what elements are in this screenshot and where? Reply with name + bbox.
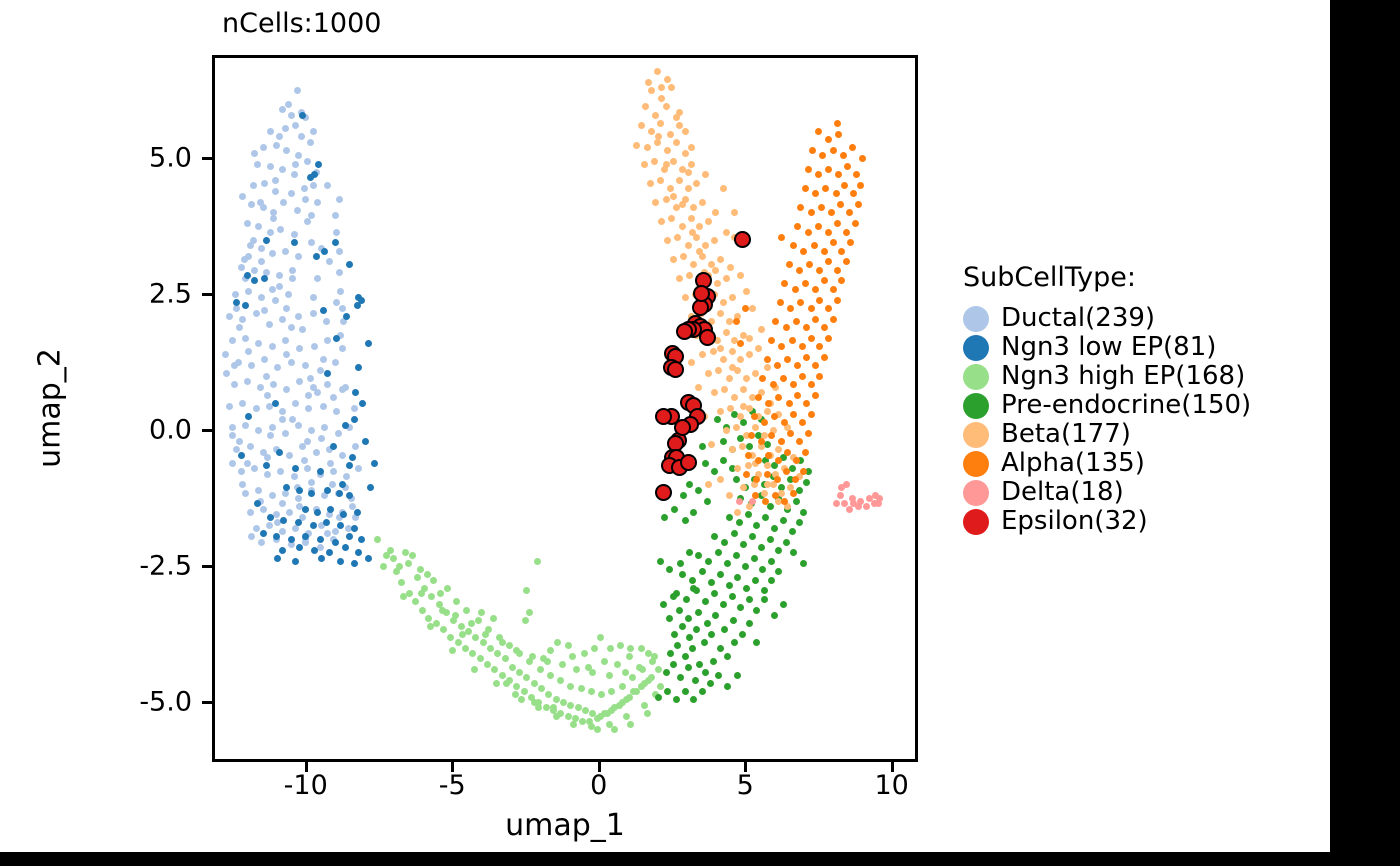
scatter-point — [222, 351, 229, 358]
scatter-point — [337, 558, 344, 565]
scatter-point — [765, 452, 772, 459]
scatter-point — [261, 307, 268, 314]
scatter-point — [260, 144, 267, 151]
scatter-point — [711, 389, 718, 396]
scatter-point — [758, 544, 765, 551]
scatter-point — [288, 112, 295, 119]
scatter-point — [793, 318, 800, 325]
scatter-point — [794, 362, 801, 369]
scatter-point — [790, 381, 797, 388]
scatter-point — [787, 430, 794, 437]
scatter-point — [274, 364, 281, 371]
scatter-point — [720, 457, 727, 464]
scatter-point — [685, 242, 692, 249]
legend: SubCellType: Ductal(239)Ngn3 low EP(81)N… — [963, 262, 1303, 536]
scatter-point — [771, 413, 778, 420]
scatter-point — [651, 158, 658, 165]
scatter-point — [232, 291, 239, 298]
scatter-point — [484, 661, 491, 668]
scatter-point — [371, 460, 378, 467]
scatter-point — [692, 677, 699, 684]
scatter-point — [336, 248, 343, 255]
scatter-point — [772, 318, 779, 325]
scatter-point — [667, 361, 684, 378]
scatter-point — [712, 267, 719, 274]
scatter-point — [705, 370, 712, 377]
scatter-point — [679, 623, 686, 630]
scatter-point — [830, 316, 837, 323]
scatter-point — [380, 563, 387, 570]
scatter-point — [291, 171, 298, 178]
scatter-point — [288, 359, 295, 366]
scatter-point — [710, 658, 717, 665]
scatter-point — [339, 452, 346, 459]
scatter-point — [304, 158, 311, 165]
scatter-point — [307, 375, 314, 382]
scatter-point — [743, 288, 750, 295]
scatter-point — [245, 253, 252, 260]
scatter-point — [581, 650, 588, 657]
scatter-point — [667, 650, 674, 657]
scatter-point — [796, 267, 803, 274]
scatter-point — [657, 120, 664, 127]
scatter-point — [753, 639, 760, 646]
scatter-point — [273, 511, 280, 518]
scatter-point — [736, 498, 743, 505]
legend-swatch-icon — [963, 480, 989, 506]
scatter-point — [734, 509, 741, 516]
scatter-point — [731, 639, 738, 646]
legend-item-beta[interactable]: Beta(177) — [963, 420, 1303, 449]
scatter-point — [310, 310, 317, 317]
scatter-point — [276, 449, 283, 456]
scatter-point — [673, 696, 680, 703]
scatter-point — [777, 299, 784, 306]
scatter-point — [324, 370, 331, 377]
scatter-point — [721, 539, 728, 546]
scatter-point — [279, 547, 286, 554]
scatter-point — [418, 590, 425, 597]
scatter-point — [708, 631, 715, 638]
scatter-point — [670, 193, 677, 200]
scatter-point — [296, 487, 303, 494]
scatter-point — [660, 601, 667, 608]
scatter-point — [229, 432, 236, 439]
scatter-point — [339, 305, 346, 312]
scatter-point — [853, 171, 860, 178]
scatter-point — [292, 161, 299, 168]
scatter-point — [330, 394, 337, 401]
scatter-point — [808, 335, 815, 342]
scatter-point — [226, 403, 233, 410]
scatter-point — [406, 590, 413, 597]
scatter-point — [855, 201, 862, 208]
scatter-point — [333, 408, 340, 415]
scatter-point — [638, 122, 645, 129]
scatter-point — [263, 237, 270, 244]
scatter-point — [815, 128, 822, 135]
scatter-point — [321, 424, 328, 431]
scatter-point — [330, 443, 337, 450]
scatter-point — [863, 503, 870, 510]
legend-item-alpha[interactable]: Alpha(135) — [963, 449, 1303, 478]
scatter-point — [835, 131, 842, 138]
scatter-point — [800, 509, 807, 516]
scatter-point — [244, 378, 251, 385]
scatter-point — [720, 356, 727, 363]
scatter-point — [833, 190, 840, 197]
scatter-point — [261, 180, 268, 187]
scatter-point — [740, 403, 747, 410]
scatter-point — [424, 571, 431, 578]
scatter-point — [250, 182, 257, 189]
scatter-point — [317, 367, 324, 374]
scatter-point — [689, 645, 696, 652]
scatter-point — [825, 335, 832, 342]
scatter-point — [261, 275, 268, 282]
scatter-point — [260, 530, 267, 537]
scatter-point — [236, 324, 243, 331]
scatter-point — [619, 683, 626, 690]
scatter-point — [296, 544, 303, 551]
scatter-point — [764, 364, 771, 371]
legend-label: Pre-endocrine(150) — [1001, 391, 1251, 420]
legend-item-delta[interactable]: Delta(18) — [963, 478, 1303, 507]
legend-item-ngn3-low-ep[interactable]: Ngn3 low EP(81) — [963, 333, 1303, 362]
scatter-point — [778, 490, 785, 497]
scatter-point — [799, 373, 806, 380]
scatter-point — [314, 509, 321, 516]
scatter-point — [311, 343, 318, 350]
scatter-point — [283, 386, 290, 393]
scatter-point — [255, 340, 262, 347]
scatter-point — [277, 226, 284, 233]
scatter-point — [743, 375, 750, 382]
scatter-point — [740, 419, 747, 426]
scatter-point — [374, 536, 381, 543]
scatter-point — [547, 672, 554, 679]
legend-item-ngn3-high-ep[interactable]: Ngn3 high EP(168) — [963, 362, 1303, 391]
legend-item-ductal[interactable]: Ductal(239) — [963, 304, 1303, 333]
scatter-point — [301, 457, 308, 464]
scatter-point — [800, 248, 807, 255]
scatter-point — [295, 253, 302, 260]
scatter-point — [270, 381, 277, 388]
scatter-point — [343, 473, 350, 480]
scatter-point — [674, 234, 681, 241]
scatter-point — [749, 498, 756, 505]
scatter-point — [789, 528, 796, 535]
scatter-point — [295, 495, 302, 502]
scatter-point — [717, 408, 724, 415]
scatter-point — [822, 185, 829, 192]
scatter-point — [753, 476, 760, 483]
scatter-point — [554, 639, 561, 646]
scatter-point — [279, 106, 286, 113]
scatter-point — [677, 674, 684, 681]
scatter-point — [570, 721, 577, 728]
scatter-point — [739, 443, 746, 450]
scatter-point — [286, 509, 293, 516]
scatter-point — [733, 424, 740, 431]
scatter-point — [560, 699, 567, 706]
scatter-point — [346, 462, 353, 469]
scatter-point — [702, 598, 709, 605]
scatter-point — [775, 568, 782, 575]
scatter-point — [812, 316, 819, 323]
scatter-point — [841, 182, 848, 189]
scatter-point — [238, 264, 245, 271]
scatter-point — [453, 598, 460, 605]
scatter-point — [685, 615, 692, 622]
scatter-point — [352, 389, 359, 396]
scatter-point — [472, 634, 479, 641]
scatter-point — [245, 413, 252, 420]
scatter-point — [582, 707, 589, 714]
scatter-point — [355, 549, 362, 556]
scatter-point — [771, 612, 778, 619]
scatter-point — [745, 462, 752, 469]
scatter-point — [365, 340, 372, 347]
scatter-point — [737, 272, 744, 279]
scatter-point — [327, 506, 334, 513]
y-tick-label: 5.0 — [60, 143, 192, 174]
scatter-point — [547, 647, 554, 654]
scatter-point — [349, 454, 356, 461]
scatter-point — [731, 394, 738, 401]
figure-canvas: nCells:1000 -10-50510 5.02.50.0-2.5-5.0 … — [0, 0, 1330, 852]
scatter-point — [645, 677, 652, 684]
legend-label: Alpha(135) — [1001, 449, 1145, 478]
legend-label: Ngn3 low EP(81) — [1001, 333, 1216, 362]
scatter-point — [396, 563, 403, 570]
y-tick-mark — [202, 565, 212, 568]
scatter-point — [567, 683, 574, 690]
x-tick-label: -10 — [284, 770, 328, 801]
scatter-point — [272, 400, 279, 407]
scatter-point — [781, 498, 788, 505]
scatter-point — [764, 481, 771, 488]
scatter-point — [529, 653, 536, 660]
scatter-point — [729, 446, 736, 453]
scatter-point — [734, 465, 741, 472]
scatter-point — [335, 430, 342, 437]
scatter-point — [616, 702, 623, 709]
scatter-point — [493, 680, 500, 687]
scatter-point — [269, 492, 276, 499]
scatter-point — [711, 237, 718, 244]
scatter-point — [696, 223, 703, 230]
scatter-point — [292, 400, 299, 407]
scatter-point — [702, 669, 709, 676]
scatter-point — [834, 297, 841, 304]
scatter-point — [805, 229, 812, 236]
scatter-point — [462, 645, 469, 652]
scatter-point — [250, 237, 257, 244]
legend-swatch-icon — [963, 393, 989, 419]
scatter-point — [730, 617, 737, 624]
scatter-point — [339, 345, 346, 352]
legend-swatch-icon — [963, 335, 989, 361]
scatter-point — [655, 484, 672, 501]
scatter-point — [263, 462, 270, 469]
scatter-point — [452, 612, 459, 619]
scatter-point — [238, 468, 245, 475]
scatter-point — [702, 460, 709, 467]
scatter-point — [597, 634, 604, 641]
scatter-point — [324, 487, 331, 494]
scatter-point — [751, 413, 758, 420]
scatter-point — [346, 533, 353, 540]
scatter-point — [607, 645, 614, 652]
scatter-point — [308, 490, 315, 497]
scatter-point — [654, 68, 661, 75]
scatter-point — [652, 199, 659, 206]
scatter-point — [490, 615, 497, 622]
scatter-point — [855, 503, 862, 510]
scatter-point — [283, 305, 290, 312]
y-tick-label: 2.5 — [60, 279, 192, 310]
scatter-point — [674, 419, 691, 436]
scatter-point — [277, 468, 284, 475]
scatter-point — [792, 286, 799, 293]
scatter-point — [295, 152, 302, 159]
scatter-point — [267, 163, 274, 170]
scatter-point — [272, 188, 279, 195]
scatter-point — [642, 103, 649, 110]
scatter-point — [850, 190, 857, 197]
scatter-point — [657, 683, 664, 690]
scatter-point — [690, 696, 697, 703]
scatter-point — [721, 626, 728, 633]
scatter-point — [365, 555, 372, 562]
scatter-point — [594, 726, 601, 733]
scatter-point — [327, 460, 334, 467]
scatter-point — [752, 577, 759, 584]
scatter-point — [304, 465, 311, 472]
scatter-point — [626, 653, 633, 660]
scatter-point — [821, 248, 828, 255]
scatter-point — [352, 443, 359, 450]
scatter-point — [623, 713, 630, 720]
scatter-point — [305, 405, 312, 412]
scatter-point — [688, 144, 695, 151]
scatter-point — [833, 500, 840, 507]
scatter-point — [746, 335, 753, 342]
scatter-point — [715, 672, 722, 679]
scatter-point — [787, 305, 794, 312]
scatter-point — [688, 359, 695, 366]
legend-item-epsilon[interactable]: Epsilon(32) — [963, 507, 1303, 536]
scatter-point — [834, 267, 841, 274]
legend-swatch-icon — [963, 451, 989, 477]
scatter-point — [238, 452, 245, 459]
scatter-point — [279, 528, 286, 535]
scatter-point — [383, 552, 390, 559]
scatter-point — [768, 558, 775, 565]
scatter-point — [821, 324, 828, 331]
scatter-point — [273, 142, 280, 149]
scatter-point — [333, 229, 340, 236]
scatter-point — [707, 680, 714, 687]
scatter-point — [291, 239, 298, 246]
scatter-point — [655, 133, 662, 140]
scatter-point — [248, 201, 255, 208]
scatter-point — [315, 161, 322, 168]
scatter-point — [671, 506, 678, 513]
legend-item-pre-endocrine[interactable]: Pre-endocrine(150) — [963, 391, 1303, 420]
scatter-point — [729, 294, 736, 301]
scatter-point — [611, 726, 618, 733]
scatter-point — [808, 209, 815, 216]
scatter-point — [724, 560, 731, 567]
scatter-point — [354, 509, 361, 516]
scatter-point — [708, 579, 715, 586]
scatter-point — [330, 468, 337, 475]
scatter-point — [449, 647, 456, 654]
scatter-point — [690, 261, 697, 268]
scatter-point — [229, 337, 236, 344]
scatter-point — [658, 95, 665, 102]
scatter-point — [739, 631, 746, 638]
scatter-point — [354, 302, 361, 309]
scatter-point — [622, 669, 629, 676]
scatter-point — [644, 144, 651, 151]
scatter-point — [749, 305, 756, 312]
scatter-point — [629, 674, 636, 681]
scatter-point — [405, 560, 412, 567]
scatter-point — [606, 672, 613, 679]
scatter-point — [658, 218, 665, 225]
scatter-point — [702, 171, 709, 178]
scatter-point — [668, 84, 675, 91]
scatter-point — [849, 144, 856, 151]
scatter-point — [279, 408, 286, 415]
y-tick-mark — [202, 701, 212, 704]
scatter-point — [359, 400, 366, 407]
scatter-point — [282, 430, 289, 437]
scatter-point — [534, 558, 541, 565]
scatter-point — [279, 500, 286, 507]
scatter-point — [816, 343, 823, 350]
scatter-point — [288, 536, 295, 543]
scatter-point — [258, 245, 265, 252]
scatter-point — [242, 490, 249, 497]
scatter-point — [784, 356, 791, 363]
scatter-point — [279, 416, 286, 423]
scatter-point — [417, 566, 424, 573]
scatter-point — [812, 392, 819, 399]
scatter-point — [502, 655, 509, 662]
scatter-point — [838, 248, 845, 255]
scatter-point — [733, 476, 740, 483]
scatter-point — [781, 280, 788, 287]
scatter-point — [608, 688, 615, 695]
scatter-point — [288, 324, 295, 331]
scatter-point — [292, 122, 299, 129]
scatter-point — [601, 658, 608, 665]
scatter-point — [400, 593, 407, 600]
scatter-point — [679, 571, 686, 578]
scatter-point — [736, 519, 743, 526]
scatter-point — [748, 432, 755, 439]
scatter-point — [790, 411, 797, 418]
scatter-point — [737, 356, 744, 363]
scatter-point — [444, 585, 451, 592]
scatter-point — [816, 267, 823, 274]
scatter-point — [266, 321, 273, 328]
scatter-point — [726, 375, 733, 382]
